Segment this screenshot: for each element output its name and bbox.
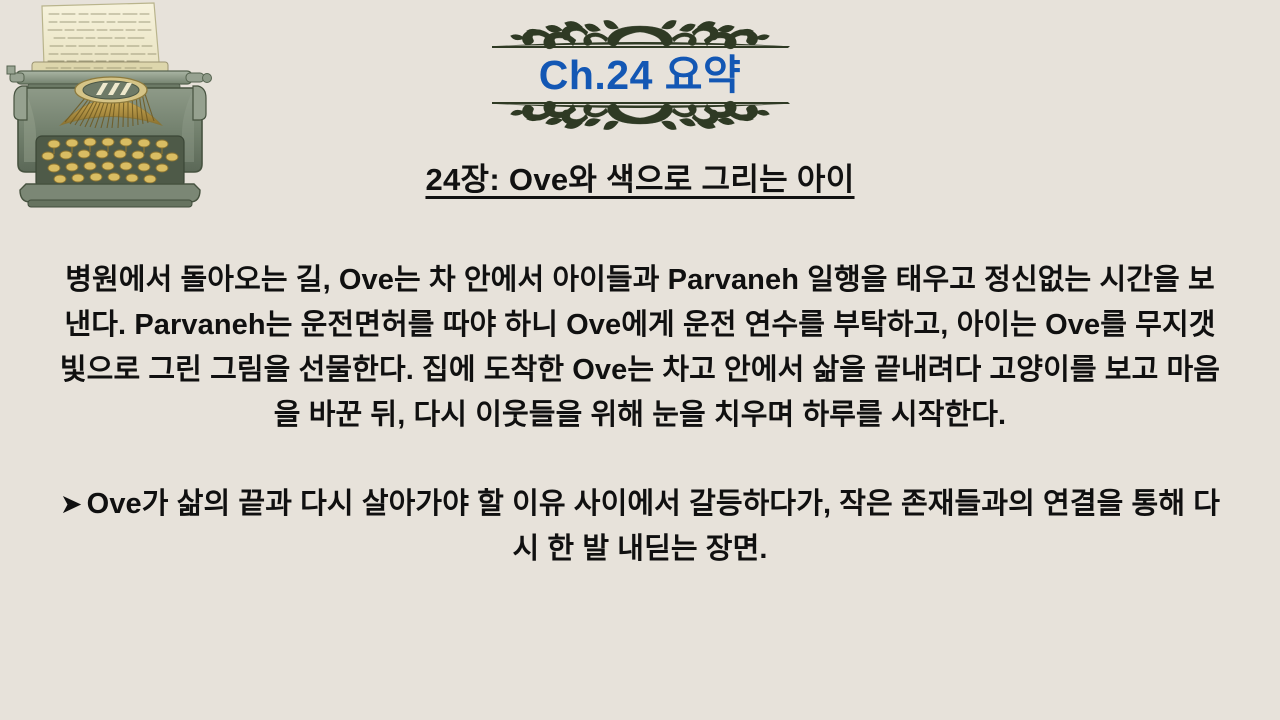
chapter-subtitle-text: 24장: Ove와 색으로 그리는 아이 <box>425 162 854 197</box>
vine-flourish-ornament <box>490 100 790 130</box>
summary-paragraph: 병원에서 돌아오는 길, Ove는 차 안에서 아이들과 Parvaneh 일행… <box>55 258 1225 438</box>
slide-canvas: Ch.24 요약 <box>0 0 1280 720</box>
title-block: Ch.24 요약 <box>440 20 840 130</box>
takeaway-paragraph-text: Ove가 삶의 끝과 다시 살아가야 할 이유 사이에서 갈등하다가, 작은 존… <box>87 488 1220 565</box>
vine-flourish-ornament <box>490 20 790 50</box>
takeaway-paragraph: ➤Ove가 삶의 끝과 다시 살아가야 할 이유 사이에서 갈등하다가, 작은 … <box>55 482 1225 572</box>
chapter-subtitle: 24장: Ove와 색으로 그리는 아이 <box>0 160 1280 200</box>
typewriter-paper <box>42 3 159 66</box>
body-text-block: 병원에서 돌아오는 길, Ove는 차 안에서 아이들과 Parvaneh 일행… <box>55 258 1225 572</box>
page-title: Ch.24 요약 <box>440 52 840 98</box>
arrow-bullet-icon: ➤ <box>60 489 87 519</box>
